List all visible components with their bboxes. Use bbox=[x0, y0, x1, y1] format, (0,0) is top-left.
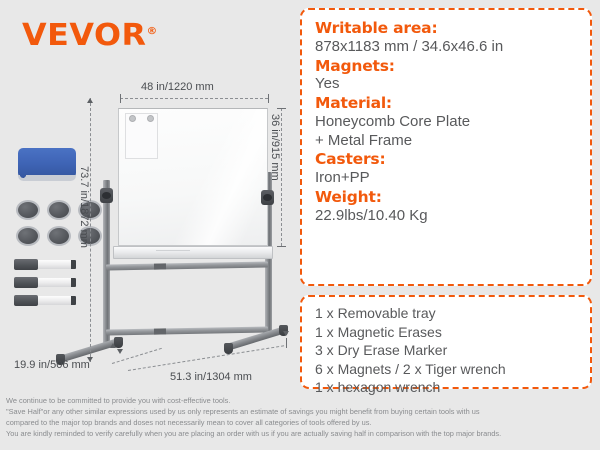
spec-value-material-line2: + Metal Frame bbox=[315, 132, 577, 151]
spec-key-casters: Casters: bbox=[315, 150, 577, 169]
dim-label-base-depth: 19.9 in/506 mm bbox=[14, 359, 90, 371]
dim-arrow-down bbox=[283, 331, 289, 336]
disclaimer-line: You are kindly reminded to verify carefu… bbox=[6, 429, 598, 440]
crossbar-joint bbox=[154, 328, 166, 334]
product-illustration: 48 in/1220 mm 36 in/915 mm 73.7 in/1872 … bbox=[0, 60, 290, 390]
marker-cap bbox=[14, 295, 38, 306]
stand-crossbar-lower bbox=[106, 326, 268, 335]
pivot-knob-right bbox=[261, 190, 274, 205]
package-item: 1 x hexagon wrench bbox=[315, 378, 577, 397]
spec-value-magnets: Yes bbox=[315, 75, 577, 94]
magnet-illustration bbox=[47, 200, 71, 220]
marker-illustration bbox=[14, 260, 76, 269]
spec-key-material: Material: bbox=[315, 94, 577, 113]
crossbar-joint bbox=[154, 263, 166, 269]
spec-value-material-line1: Honeycomb Core Plate bbox=[315, 113, 577, 132]
dim-arrow-up bbox=[87, 98, 93, 103]
eraser-illustration bbox=[18, 148, 76, 178]
caster-wheel bbox=[224, 343, 233, 354]
paper-magnet-icon bbox=[129, 115, 136, 122]
dim-line-board-width bbox=[120, 98, 268, 99]
spec-value-weight: 22.9lbs/10.40 Kg bbox=[315, 207, 577, 226]
magnet-illustration bbox=[16, 200, 40, 220]
dim-line-base-width bbox=[128, 345, 284, 371]
specifications-panel: Writable area: 878x1183 mm / 34.6x46.6 i… bbox=[300, 8, 592, 286]
dim-tick bbox=[277, 246, 286, 247]
dim-arrow-up bbox=[110, 343, 116, 348]
spec-key-weight: Weight: bbox=[315, 188, 577, 207]
dim-tick bbox=[120, 94, 121, 103]
tray-detail bbox=[156, 250, 190, 251]
spec-key-writable-area: Writable area: bbox=[315, 19, 577, 38]
disclaimer-footer: We continue to be committed to provide y… bbox=[6, 396, 598, 440]
dim-tick bbox=[268, 94, 269, 103]
dim-label-total-height: 73.7 in/1872 mm bbox=[78, 166, 90, 248]
package-item: 3 x Dry Erase Marker bbox=[315, 341, 577, 360]
magnet-illustration bbox=[16, 226, 40, 246]
marker-illustration bbox=[14, 296, 76, 305]
marker-cap bbox=[14, 277, 38, 288]
brand-name: VEVOR bbox=[22, 18, 147, 53]
dim-tick bbox=[286, 338, 287, 348]
package-contents-panel: 1 x Removable tray 1 x Magnetic Erases 3… bbox=[300, 295, 592, 389]
vevor-logo: VEVOR® bbox=[22, 18, 158, 53]
dim-label-board-width: 48 in/1220 mm bbox=[141, 81, 214, 93]
marker-tip bbox=[71, 260, 76, 269]
disclaimer-line: We continue to be committed to provide y… bbox=[6, 396, 598, 407]
dim-arrow-down bbox=[117, 349, 123, 354]
spec-value-writable-area: 878x1183 mm / 34.6x46.6 in bbox=[315, 38, 577, 57]
package-item: 1 x Magnetic Erases bbox=[315, 323, 577, 342]
package-item: 1 x Removable tray bbox=[315, 304, 577, 323]
disclaimer-line: "Save Half"or any other similar expressi… bbox=[6, 407, 598, 418]
dim-label-base-width: 51.3 in/1304 mm bbox=[170, 371, 252, 383]
disclaimer-line: compared to the major top brands and dos… bbox=[6, 418, 598, 429]
magnet-illustration bbox=[47, 226, 71, 246]
package-item: 6 x Magnets / 2 x Tiger wrench bbox=[315, 360, 577, 379]
removable-tray bbox=[113, 246, 273, 259]
spec-key-magnets: Magnets: bbox=[315, 57, 577, 76]
dim-label-board-height: 36 in/915 mm bbox=[269, 114, 281, 181]
whiteboard-panel bbox=[118, 108, 268, 246]
marker-cap bbox=[14, 259, 38, 270]
registered-trademark-icon: ® bbox=[147, 26, 158, 37]
dim-line-board-height bbox=[281, 108, 282, 246]
spec-value-casters: Iron+PP bbox=[315, 169, 577, 188]
marker-tip bbox=[71, 296, 76, 305]
dim-tick bbox=[277, 108, 286, 109]
marker-illustration bbox=[14, 278, 76, 287]
paper-magnet-icon bbox=[147, 115, 154, 122]
pivot-knob-left bbox=[100, 188, 113, 203]
dim-line-total-height bbox=[90, 98, 91, 362]
marker-tip bbox=[71, 278, 76, 287]
stand-crossbar-upper bbox=[106, 261, 268, 270]
